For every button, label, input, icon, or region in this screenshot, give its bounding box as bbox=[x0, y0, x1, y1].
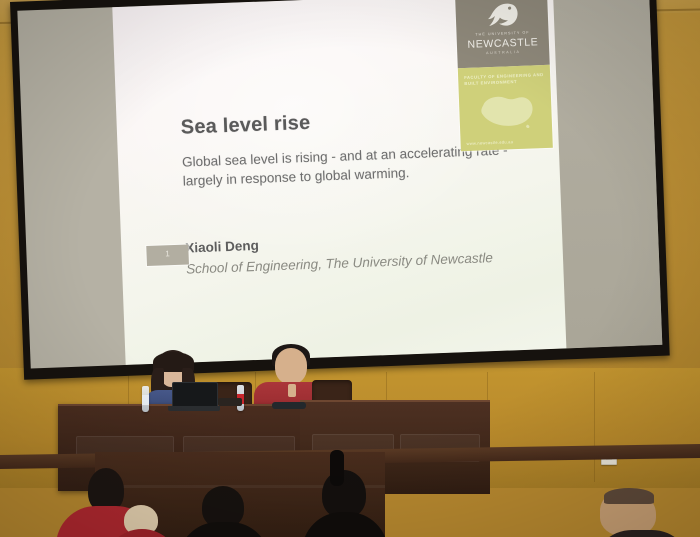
head bbox=[275, 348, 307, 384]
projected-slide: Sea level rise Global sea level is risin… bbox=[112, 0, 566, 365]
screen-unlit-band-right bbox=[553, 0, 662, 348]
projection-screen: Sea level rise Global sea level is risin… bbox=[10, 0, 670, 380]
logo-url: www.newcastle.edu.au bbox=[467, 139, 514, 146]
audience-member-2 bbox=[118, 505, 164, 537]
slide-page-number: 1 bbox=[146, 248, 188, 259]
neck bbox=[288, 384, 296, 397]
wall-panel-seam bbox=[594, 372, 595, 482]
newcastle-horse-icon bbox=[481, 1, 522, 30]
water-bottle-left bbox=[142, 386, 149, 412]
head bbox=[322, 470, 366, 518]
bottle-label bbox=[142, 395, 149, 405]
audience-member-3 bbox=[196, 486, 248, 537]
slide-title: Sea level rise bbox=[180, 112, 310, 140]
hair bbox=[604, 488, 654, 504]
laptop-base bbox=[168, 406, 220, 411]
ponytail bbox=[330, 450, 344, 486]
australia-map-icon bbox=[471, 89, 543, 134]
audience-member-5 bbox=[600, 490, 674, 537]
microphone bbox=[272, 402, 306, 409]
screen-surface: Sea level rise Global sea level is risin… bbox=[17, 0, 662, 368]
logo-faculty-line: FACULTY OF ENGINEERING AND BUILT ENVIRON… bbox=[464, 72, 544, 86]
logo-bottom-panel: FACULTY OF ENGINEERING AND BUILT ENVIRON… bbox=[458, 65, 553, 151]
university-logo-block: THE UNIVERSITY OF NEWCASTLE AUSTRALIA FA… bbox=[455, 0, 553, 151]
slide-page-box: 1 bbox=[146, 244, 189, 266]
slide-author: Xiaoli Deng bbox=[185, 238, 259, 256]
desk-object bbox=[218, 398, 242, 406]
logo-top-panel: THE UNIVERSITY OF NEWCASTLE AUSTRALIA bbox=[455, 0, 550, 68]
lecture-hall-scene: Sea level rise Global sea level is risin… bbox=[0, 0, 700, 537]
